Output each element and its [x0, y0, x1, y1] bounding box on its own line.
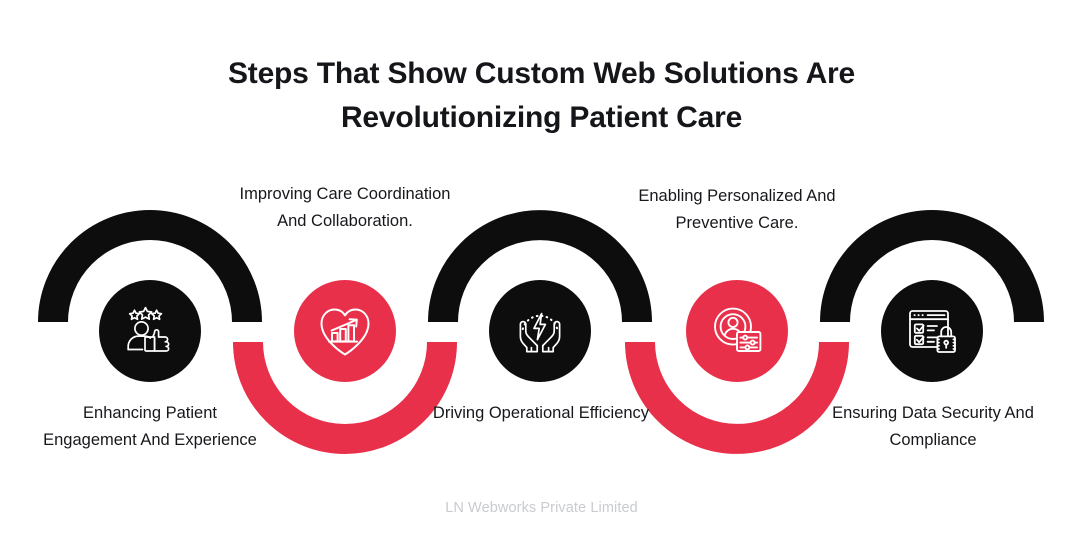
infographic-root: Steps That Show Custom Web Solutions Are…	[0, 0, 1083, 543]
user-settings-sliders-icon	[707, 301, 767, 361]
step-node-5[interactable]	[881, 280, 983, 382]
person-stars-thumbsup-icon	[120, 301, 180, 361]
hands-lightning-bolt-icon	[510, 301, 570, 361]
step-label-4: Enabling Personalized And Preventive Car…	[622, 183, 852, 236]
step-label-5: Ensuring Data Security And Compliance	[818, 400, 1048, 453]
heart-growth-chart-icon	[316, 302, 374, 360]
footer-attribution: LN Webworks Private Limited	[0, 500, 1083, 516]
wave-arcs	[0, 0, 1083, 543]
step-node-3[interactable]	[489, 280, 591, 382]
browser-checklist-lock-icon	[902, 301, 962, 361]
step-node-1[interactable]	[99, 280, 201, 382]
step-label-3: Driving Operational Efficiency	[426, 400, 656, 427]
step-label-2: Improving Care Coordination And Collabor…	[230, 181, 460, 234]
step-label-1: Enhancing Patient Engagement And Experie…	[35, 400, 265, 453]
step-node-4[interactable]	[686, 280, 788, 382]
step-node-2[interactable]	[294, 280, 396, 382]
